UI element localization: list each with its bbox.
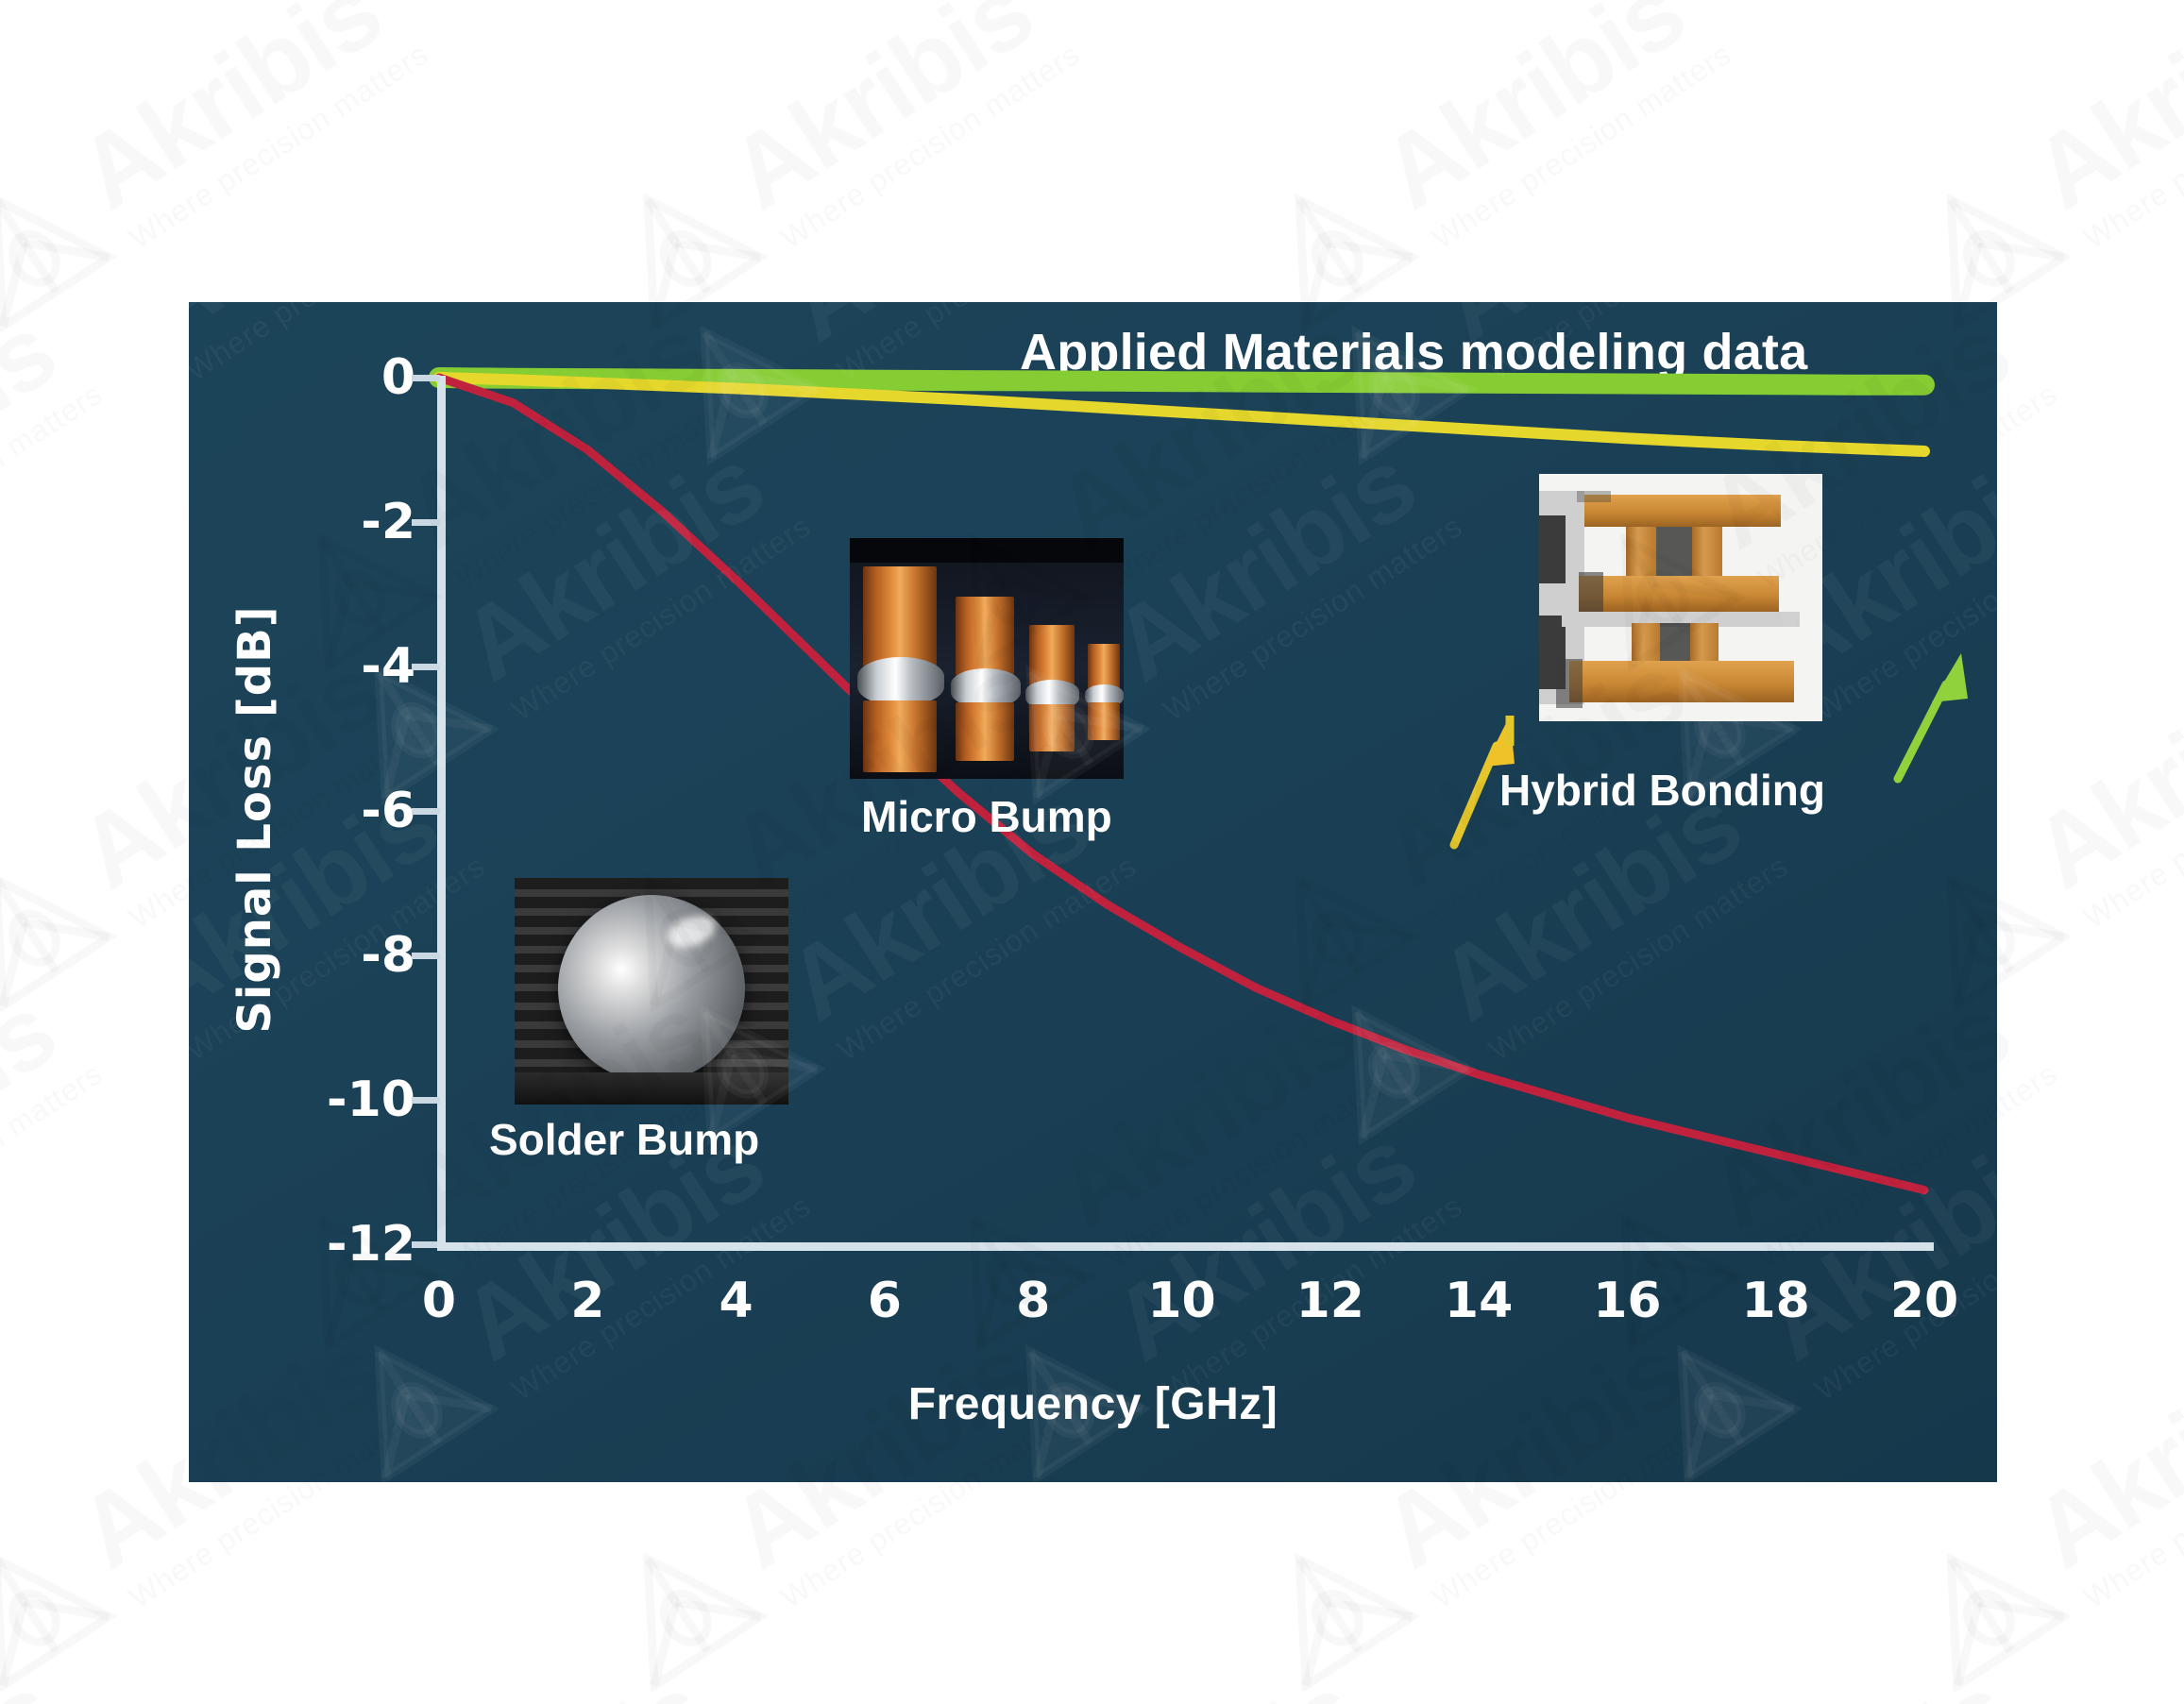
watermark-tagline: Where precision matters [1427, 39, 1736, 254]
akribis-logo-icon [0, 155, 120, 336]
watermark-name: Akribis [1040, 1647, 1391, 1704]
watermark-name: Akribis [2017, 0, 2184, 226]
watermark-name: Akribis [1365, 0, 1717, 226]
akribis-logo-icon [1888, 1514, 2074, 1696]
hybrid-bonding-caption: Hybrid Bonding [1499, 765, 1825, 816]
chart-panel: AkribisWhere precision mattersAkribisWhe… [189, 302, 1997, 1482]
watermark-name: Akribis [1691, 1647, 2042, 1704]
akribis-logo-icon [584, 1514, 771, 1696]
y-tick-mark [412, 808, 440, 815]
y-tick-mark [412, 664, 440, 670]
watermark-name: Akribis [0, 968, 88, 1245]
x-axis-line [437, 1242, 1934, 1251]
micro-bump-caption: Micro Bump [861, 791, 1112, 842]
solder-bump-photo [515, 878, 788, 1105]
watermark-tagline: Where precision matters [0, 379, 108, 594]
y-tick-mark [412, 953, 440, 959]
hybrid-bonding-photo [1539, 474, 1822, 721]
watermark-tagline: Where precision matters [775, 39, 1085, 254]
y-tick-mark [412, 519, 440, 526]
watermark-tagline: Where precision matters [2078, 39, 2184, 254]
watermark-name: Akribis [2017, 628, 2184, 905]
watermark-name: Akribis [714, 0, 1065, 226]
watermark-tagline: Where precision matters [2078, 718, 2184, 934]
solder-bump-caption: Solder Bump [489, 1114, 759, 1165]
akribis-logo-icon [0, 835, 120, 1016]
watermark-name: Akribis [62, 0, 414, 226]
watermark-tagline: Where precision matters [2078, 1398, 2184, 1613]
watermark-name: Akribis [388, 1647, 739, 1704]
watermark-name: Akribis [0, 1647, 88, 1704]
akribis-logo-icon [0, 1514, 120, 1696]
hybrid-bonding-arrow-icon [1898, 653, 1968, 779]
watermark-tagline: Where precision matters [124, 39, 433, 254]
y-tick-mark [412, 1241, 440, 1248]
y-tick-mark [412, 1097, 440, 1104]
watermark-name: Akribis [2017, 1308, 2184, 1585]
watermark-name: Akribis [0, 288, 88, 565]
watermark-tagline: Where precision matters [0, 1058, 108, 1274]
y-tick-mark [412, 375, 440, 381]
micro-bump-photo [850, 538, 1124, 779]
akribis-logo-icon [1236, 1514, 1423, 1696]
